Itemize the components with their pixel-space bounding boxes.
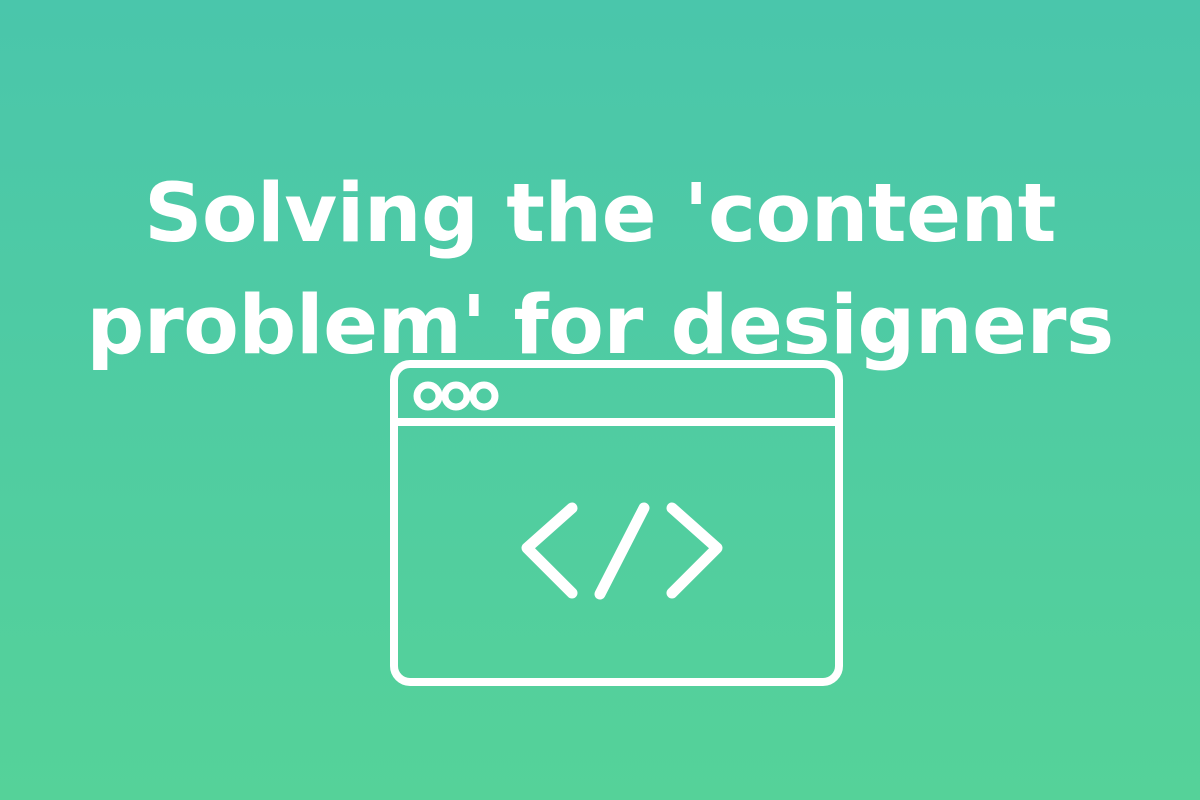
code-chevron-right-icon — [672, 508, 717, 593]
browser-window-code-illustration — [386, 356, 847, 690]
code-chevron-left-icon — [527, 508, 572, 593]
code-brackets-icon — [527, 508, 717, 594]
page-title: Solving the 'content problem' for design… — [0, 158, 1200, 382]
browser-window-icon — [386, 356, 847, 690]
social-share-card: Solving the 'content problem' for design… — [0, 0, 1200, 800]
code-slash-icon — [600, 508, 644, 594]
browser-dot-maximize-icon — [473, 385, 495, 407]
browser-window-frame — [394, 364, 839, 682]
browser-dot-minimize-icon — [445, 385, 467, 407]
browser-dot-close-icon — [417, 385, 439, 407]
page-title-line-1: Solving the 'content — [0, 158, 1200, 270]
